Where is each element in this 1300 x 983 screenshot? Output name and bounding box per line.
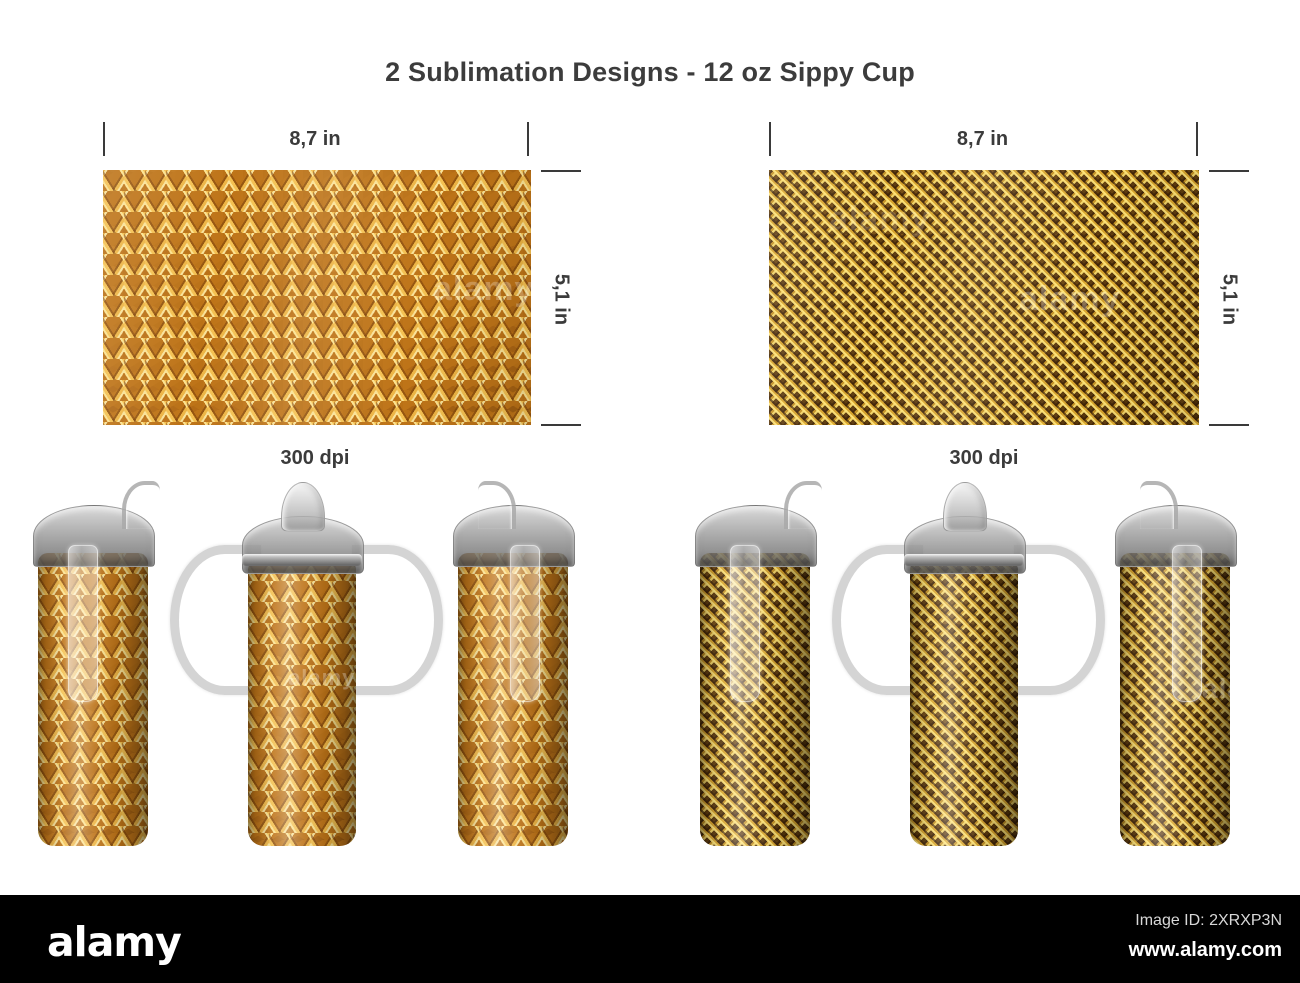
design2-width-tick-right xyxy=(1196,122,1198,156)
design1-dpi-label: 300 dpi xyxy=(215,447,415,470)
design1-height-tick-bottom xyxy=(541,424,581,426)
design1-cup-right-side xyxy=(458,553,568,846)
design2-dpi-label: 300 dpi xyxy=(884,447,1084,470)
design1-width-tick-right xyxy=(527,122,529,156)
design1-artwork-swatch: alamy alamy xyxy=(103,170,531,425)
alamy-footer-bar: alamy Image ID: 2XRXP3N www.alamy.com xyxy=(0,895,1300,983)
cup-spout-side xyxy=(1140,481,1178,529)
cup-handle-right xyxy=(352,545,443,695)
page-title: 2 Sublimation Designs - 12 oz Sippy Cup xyxy=(0,57,1300,88)
cup-handle-clip xyxy=(510,545,540,702)
cup-handle-right xyxy=(1014,545,1105,695)
design2-artwork-swatch: alamy alamy xyxy=(769,170,1199,425)
cup-spout-side xyxy=(122,481,160,529)
design2-sheen xyxy=(769,170,1199,425)
design1-width-label: 8,7 in xyxy=(103,128,527,151)
design1-sheen xyxy=(103,170,531,425)
watermark-text: alamy xyxy=(433,270,531,309)
design2-cup-left-side xyxy=(700,553,810,846)
watermark-text: alamy xyxy=(1019,280,1120,319)
design2-cup-front xyxy=(910,560,1018,846)
alamy-url[interactable]: www.alamy.com xyxy=(1129,939,1282,962)
cup-spout-front xyxy=(281,482,325,532)
cup-handle-clip xyxy=(68,545,98,702)
design2-height-tick-top xyxy=(1209,170,1249,172)
design1-cup-front: alamy xyxy=(248,560,356,846)
design2-height-label: 5,1 in xyxy=(1218,264,1241,336)
design1-height-label: 5,1 in xyxy=(550,264,573,336)
cup-spout-side xyxy=(784,481,822,529)
cup-handle-clip xyxy=(1172,545,1202,702)
design1-cup-left-side xyxy=(38,553,148,846)
alamy-logo: alamy xyxy=(47,918,181,966)
cup-lid-ring xyxy=(242,554,362,566)
design2-width-label: 8,7 in xyxy=(769,128,1196,151)
cup-body xyxy=(248,560,356,846)
design2-cup-right-side: alamy xyxy=(1120,553,1230,846)
design1-height-tick-top xyxy=(541,170,581,172)
cup-lid-ring xyxy=(904,554,1024,566)
image-id-label: Image ID: 2XRXP3N xyxy=(1135,912,1282,930)
cup-handle-clip xyxy=(730,545,760,702)
poster-canvas: 2 Sublimation Designs - 12 oz Sippy Cup … xyxy=(0,0,1300,983)
cup-body xyxy=(910,560,1018,846)
watermark-text: alamy xyxy=(829,200,930,239)
design2-height-tick-bottom xyxy=(1209,424,1249,426)
cup-spout-side xyxy=(478,481,516,529)
cup-spout-front xyxy=(943,482,987,532)
